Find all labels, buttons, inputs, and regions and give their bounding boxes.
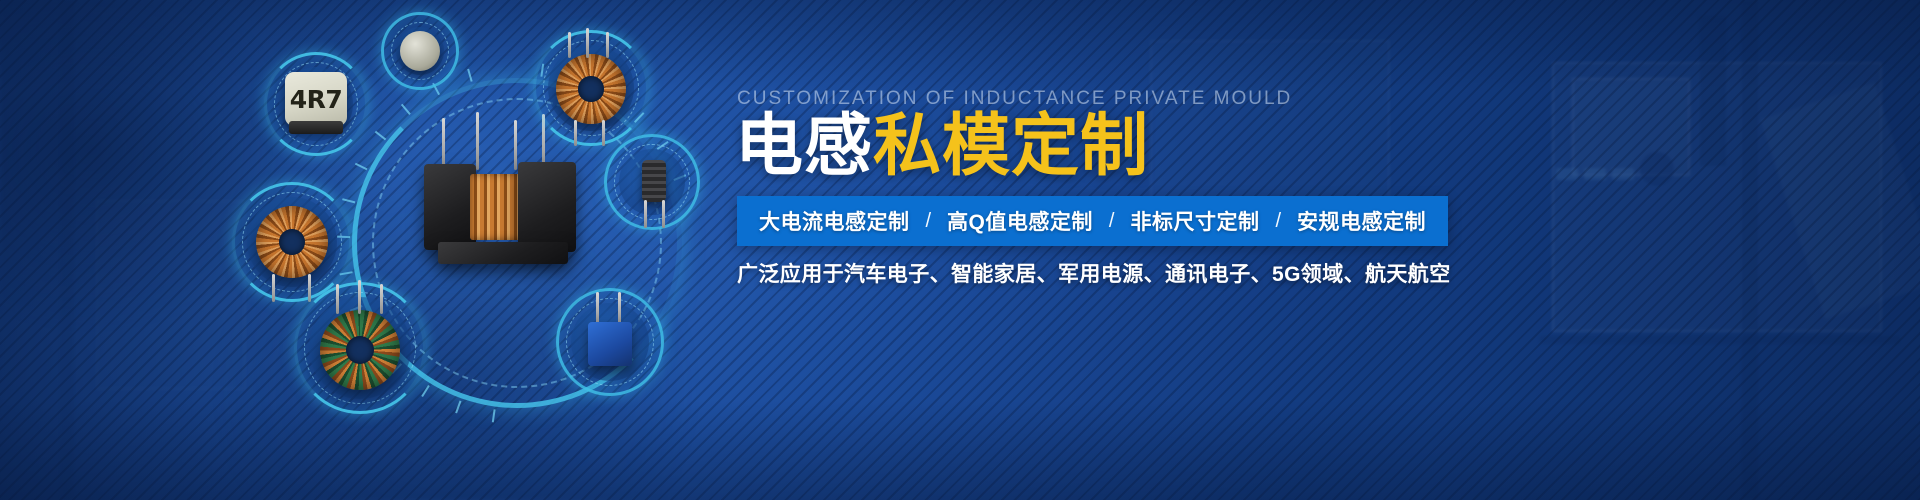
application-fields-text: 广泛应用于汽车电子、智能家居、军用电源、通讯电子、5G领域、航天航空 xyxy=(737,258,1451,288)
service-tag-4[interactable]: 安规电感定制 xyxy=(1297,206,1426,236)
product-showcase: 4R7 xyxy=(0,0,740,500)
product-copper-wound-toroid xyxy=(256,206,330,280)
product-toroidal-choke xyxy=(556,54,628,126)
product-blue-radial-inductor xyxy=(580,292,640,386)
promo-banner: 4R7 xyxy=(0,0,1920,500)
tag-separator: / xyxy=(1093,210,1131,233)
headline-gold-part: 私模定制 xyxy=(873,108,1149,184)
banner-content: CUSTOMIZATION OF INDUCTANCE PRIVATE MOUL… xyxy=(735,0,1865,500)
headline-white-part: 电感 xyxy=(735,108,873,184)
product-axial-rod-choke xyxy=(632,152,676,226)
tag-separator: / xyxy=(910,210,948,233)
product-green-toroid xyxy=(320,310,402,392)
service-tag-3[interactable]: 非标尺寸定制 xyxy=(1130,206,1259,236)
service-tag-2[interactable]: 高Q值电感定制 xyxy=(947,206,1093,236)
service-tag-bar: 大电流电感定制 / 高Q值电感定制 / 非标尺寸定制 / 安规电感定制 xyxy=(737,196,1448,246)
product-ee-core-transformer xyxy=(418,118,588,268)
smd-part-code: 4R7 xyxy=(290,85,343,114)
banner-headline: 电感私模定制 xyxy=(735,112,1149,180)
product-disc-inductor xyxy=(400,31,440,71)
service-tag-1[interactable]: 大电流电感定制 xyxy=(759,206,910,236)
tag-separator: / xyxy=(1259,210,1297,233)
product-smd-inductor: 4R7 xyxy=(285,72,347,126)
banner-kicker: CUSTOMIZATION OF INDUCTANCE PRIVATE MOUL… xyxy=(737,88,1292,110)
